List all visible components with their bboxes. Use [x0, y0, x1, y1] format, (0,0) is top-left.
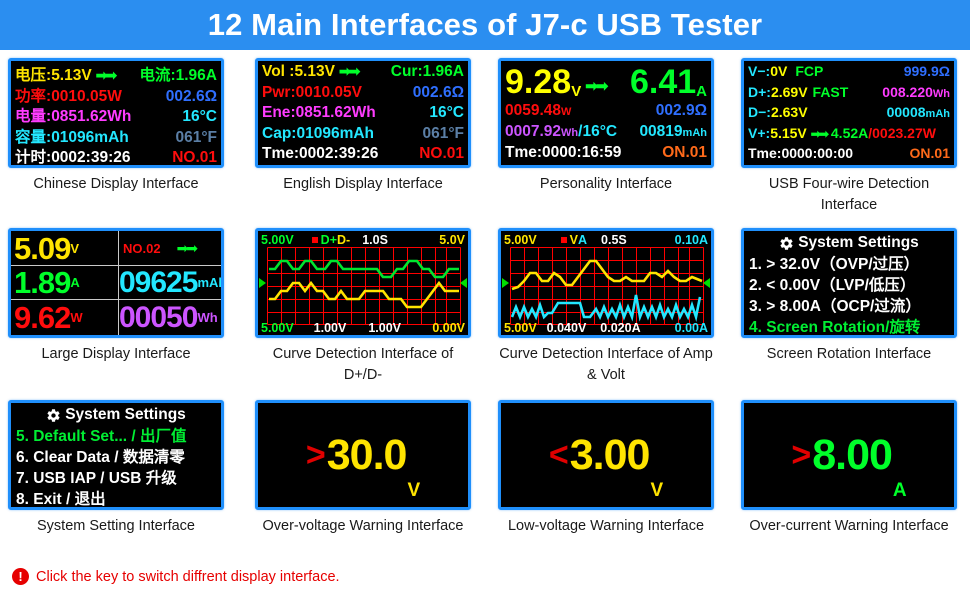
label-current: Cur — [391, 63, 418, 81]
value-group-number: NO.01 — [419, 145, 464, 163]
unit-power: W — [70, 310, 82, 325]
lcd-row: 0059.48W 002.9Ω — [505, 102, 707, 123]
label-v-minus: V−: — [748, 63, 770, 79]
legend-series-b: A — [578, 233, 587, 247]
panel-caption: Curve Detection Interface of D+/D- — [255, 344, 471, 386]
lcd-screen[interactable]: > 30.0 V — [255, 400, 471, 510]
lcd-row: 功率:0010.05W 002.6Ω — [15, 84, 217, 105]
lcd-row: Ene:0851.62Wh 16°C — [262, 104, 464, 125]
panel-large-display[interactable]: 5.09V NO.02 ➡➡ 1.89A 09625mAh 9.62W 0005… — [8, 228, 224, 365]
value-capacity: 09625 — [119, 267, 197, 298]
lcd-row: Tme:0000:00:00 ON.01 — [748, 145, 950, 166]
lcd-row: D+:2.69VFAST 008.220Wh — [748, 84, 950, 105]
settings-item-clear-data[interactable]: 6. Clear Data / 数据清零 — [11, 447, 221, 468]
panel-caption: English Display Interface — [255, 174, 471, 195]
unit-capacity: mAh — [197, 275, 221, 290]
unit-energy: Wh — [197, 310, 217, 325]
flow-arrows-icon: ➡➡ — [335, 63, 362, 80]
value-temperature-c: 16°C — [429, 104, 464, 122]
value-group-number: NO.02 — [123, 241, 161, 256]
lcd-screen[interactable]: 5.00V VA 0.5S 0.10A — [498, 228, 714, 338]
scope-plot-area — [267, 247, 459, 319]
left-marker-icon — [259, 278, 266, 288]
scope-waveform — [510, 247, 704, 325]
right-marker-icon — [460, 278, 467, 288]
unit-voltage: V — [571, 83, 581, 100]
value-voltage: 5.09 — [14, 233, 70, 264]
value-current: 1.89 — [14, 267, 70, 298]
panel-chinese-display[interactable]: 电压:5.13V ➡➡ 电流:1.96A 功率:0010.05W 002.6Ω … — [8, 58, 224, 195]
settings-item-ocp[interactable]: 3. > 8.00A（OCP/过流） — [744, 296, 954, 317]
settings-title: System Settings — [798, 234, 919, 252]
unit-voltage: V — [70, 241, 79, 256]
cell-capacity: 09625mAh — [118, 265, 221, 299]
scope-footer: 5.00V 0.040V 0.020A 0.00A — [501, 320, 711, 335]
value-protocol: FCP — [787, 63, 823, 79]
value-time: 0000:00:00 — [781, 145, 853, 161]
panel-caption: Chinese Display Interface — [8, 174, 224, 195]
panel-low-voltage-warning[interactable]: < 3.00 V Low-voltage Warning Interface — [498, 400, 714, 537]
value-status: ON.01 — [910, 145, 950, 161]
page-header: 12 Main Interfaces of J7-c USB Tester — [0, 0, 970, 50]
value-temperature-c: 16°C — [182, 108, 217, 126]
panel-system-setting[interactable]: System Settings 5. Default Set... / 出厂值 … — [8, 400, 224, 537]
settings-menu: System Settings 5. Default Set... / 出厂值 … — [11, 403, 221, 507]
page-title: 12 Main Interfaces of J7-c USB Tester — [208, 7, 762, 43]
value-temperature: /16°C — [578, 123, 617, 141]
lcd-row: 电量:0851.62Wh 16°C — [15, 104, 217, 125]
panel-caption: Large Display Interface — [8, 344, 224, 365]
scope-bottom-label-1: 5.00V — [504, 321, 537, 335]
panel-caption: Screen Rotation Interface — [741, 344, 957, 365]
value-capacity: 00008 — [887, 104, 926, 120]
left-marker-icon — [502, 278, 509, 288]
right-marker-icon — [703, 278, 710, 288]
lcd-screen[interactable]: < 3.00 V — [498, 400, 714, 510]
cell-voltage: 5.09V — [11, 231, 118, 265]
scope-timebase: 0.5S — [601, 233, 627, 247]
value-current: 1.96A — [176, 67, 217, 85]
lcd-screen[interactable]: > 8.00 A — [741, 400, 957, 510]
value-temperature-f: 061°F — [175, 129, 217, 147]
label-capacity: Cap — [262, 125, 291, 143]
value-power: 0010.05W — [51, 88, 122, 106]
label-v-plus: V+: — [748, 125, 770, 141]
unit-power: W — [561, 106, 571, 118]
value-time: 0002:39:26 — [299, 145, 378, 163]
panel-over-voltage-warning[interactable]: > 30.0 V Over-voltage Warning Interface — [255, 400, 471, 537]
legend-series-b: D- — [337, 233, 350, 247]
value-current: 6.41 — [630, 64, 696, 100]
settings-title-row: System Settings — [11, 404, 221, 426]
label-energy: Ene — [262, 104, 290, 122]
warning-content: > 30.0 V — [258, 403, 468, 507]
value-energy: 0851.62Wh — [51, 108, 131, 126]
warning-unit: V — [650, 480, 663, 507]
value-energy: 008.220 — [882, 84, 933, 100]
warning-value: 30.0 — [327, 434, 407, 477]
lcd-screen[interactable]: 5.00V D+D- 1.0S 5.0V — [255, 228, 471, 338]
panel-caption: System Setting Interface — [8, 516, 224, 537]
value-status: ON.01 — [662, 144, 707, 162]
value-charge-mode: FAST — [808, 84, 849, 100]
value-energy: 0851.62Wh — [296, 104, 376, 122]
lcd-row: D−:2.63V 00008mAh — [748, 104, 950, 125]
label-power: 功率 — [15, 84, 46, 106]
label-power: Pwr — [262, 84, 290, 102]
warning-unit: A — [893, 480, 907, 507]
unit-capacity: mAh — [683, 127, 707, 139]
value-time: 0002:39:26 — [51, 149, 130, 167]
value-v-minus: 0V — [770, 63, 787, 79]
value-temperature-f: 061°F — [422, 125, 464, 143]
cell-energy: 00050Wh — [118, 299, 221, 335]
value-power: 9.62 — [14, 302, 70, 333]
footer-note: ! Click the key to switch diffrent displ… — [12, 568, 340, 585]
flow-arrows-icon: ➡➡ — [161, 240, 200, 257]
lcd-screen[interactable]: System Settings 1. > 32.0V（OVP/过压） 2. < … — [741, 228, 957, 338]
flow-arrows-icon: ➡➡ — [92, 67, 119, 84]
value-energy: 00050 — [119, 302, 197, 333]
lcd-row: 电压:5.13V ➡➡ 电流:1.96A — [15, 63, 217, 84]
value-v-plus: 5.15V — [770, 125, 807, 141]
lcd-row: 0007.92Wh/16°C 00819mAh — [505, 123, 707, 144]
settings-item-exit[interactable]: 8. Exit / 退出 — [11, 489, 221, 510]
value-resistance: 002.6Ω — [413, 84, 464, 102]
cell-power: 9.62W — [11, 299, 118, 335]
settings-item-lvp[interactable]: 2. < 0.00V（LVP/低压） — [744, 275, 954, 296]
legend-marker-icon — [312, 237, 318, 243]
label-time: Tme — [262, 145, 294, 163]
value-resistance: 002.6Ω — [166, 88, 217, 106]
comparator-symbol: > — [791, 438, 811, 472]
value-energy: 0007.92 — [505, 123, 561, 141]
warning-value: 8.00 — [812, 434, 892, 477]
grid-divider — [118, 231, 119, 335]
settings-item-ovp[interactable]: 1. > 32.0V（OVP/过压） — [744, 254, 954, 275]
lcd-row: 容量:01096mAh 061°F — [15, 125, 217, 146]
scope-timebase: 1.0S — [362, 233, 388, 247]
scope-bottom-label-2: 0.040V — [547, 321, 587, 335]
value-power: /0023.27W — [868, 125, 936, 141]
comparator-symbol: < — [549, 438, 569, 472]
settings-title: System Settings — [65, 406, 186, 424]
settings-item-default-set[interactable]: 5. Default Set... / 出厂值 — [11, 426, 221, 447]
lcd-row: Cap:01096mAh 061°F — [262, 125, 464, 146]
lcd-row-primary: 9.28V ➡➡ 6.41A — [505, 62, 707, 102]
value-d-plus: 2.69V — [771, 84, 808, 100]
legend-marker-icon — [561, 237, 567, 243]
scope-top-left-label: 5.00V — [504, 233, 537, 247]
warning-content: > 8.00 A — [744, 403, 954, 507]
panel-caption: USB Four-wire Detection Interface — [741, 174, 957, 216]
value-power: 0010.05V — [296, 84, 362, 102]
value-voltage: 9.28 — [505, 64, 571, 100]
lcd-row: Vol :5.13V ➡➡ Cur:1.96A — [262, 63, 464, 84]
unit-energy: Wh — [561, 127, 578, 139]
page-root: 12 Main Interfaces of J7-c USB Tester 电压… — [0, 0, 970, 600]
label-d-minus: D−: — [748, 104, 771, 120]
gear-icon — [46, 408, 61, 423]
warning-value: 3.00 — [570, 434, 650, 477]
value-voltage: 5.13V — [294, 63, 335, 81]
value-group-number: NO.01 — [172, 149, 217, 167]
footer-note-text: Click the key to switch diffrent display… — [36, 569, 340, 585]
gear-icon — [779, 236, 794, 251]
panel-over-current-warning[interactable]: > 8.00 A Over-current Warning Interface — [741, 400, 957, 537]
scope-bottom-label-2: 1.00V — [314, 321, 347, 335]
label-capacity: 容量 — [15, 125, 46, 147]
label-voltage: 电压 — [15, 63, 46, 85]
lcd-screen[interactable]: V−:0VFCP 999.9Ω D+:2.69VFAST 008.220Wh D… — [741, 58, 957, 168]
unit-energy: Wh — [933, 88, 950, 100]
value-d-minus: 2.63V — [771, 104, 808, 120]
label-voltage: Vol — [262, 63, 285, 81]
cell-current: 1.89A — [11, 265, 118, 299]
lcd-screen[interactable]: 电压:5.13V ➡➡ 电流:1.96A 功率:0010.05W 002.6Ω … — [8, 58, 224, 168]
panel-screen-rotation[interactable]: System Settings 1. > 32.0V（OVP/过压） 2. < … — [741, 228, 957, 365]
settings-title-row: System Settings — [744, 232, 954, 254]
scope-header: 5.00V D+D- 1.0S 5.0V — [258, 232, 468, 247]
value-power: 0059.48 — [505, 102, 561, 120]
value-time: 0000:16:59 — [542, 144, 621, 162]
panel-caption: Over-current Warning Interface — [741, 516, 957, 537]
legend-series-a: V — [570, 233, 578, 247]
lcd-content: 电压:5.13V ➡➡ 电流:1.96A 功率:0010.05W 002.6Ω … — [11, 61, 221, 165]
value-current: 4.52A — [831, 125, 868, 141]
label-time: 计时 — [15, 145, 46, 167]
settings-item-screen-rotation[interactable]: 4. Screen Rotation/旋转 — [744, 317, 954, 338]
value-capacity: 01096mAh — [51, 129, 129, 147]
lcd-content: 9.28V ➡➡ 6.41A 0059.48W 002.9Ω 0007.92Wh… — [501, 61, 711, 165]
panel-caption: Curve Detection Interface of Amp & Volt — [498, 344, 714, 386]
value-capacity: 01096mAh — [296, 125, 374, 143]
panel-caption: Personality Interface — [498, 174, 714, 195]
scope-plot-area — [510, 247, 702, 319]
settings-menu: System Settings 1. > 32.0V（OVP/过压） 2. < … — [744, 231, 954, 335]
panel-caption: Low-voltage Warning Interface — [498, 516, 714, 537]
lcd-row: Tme:0002:39:26 NO.01 — [262, 145, 464, 166]
lcd-row: V+:5.15V➡➡4.52A/0023.27W — [748, 125, 950, 146]
lcd-content: Vol :5.13V ➡➡ Cur:1.96A Pwr:0010.05V 002… — [258, 61, 468, 165]
label-energy: 电量 — [15, 104, 46, 126]
scope-bottom-label-3: 1.00V — [368, 321, 401, 335]
value-capacity: 00819 — [639, 123, 682, 141]
unit-capacity: mAh — [926, 108, 950, 120]
label-time: Tme: — [505, 144, 542, 162]
unit-current: A — [70, 275, 79, 290]
scope-top-right-label: 5.0V — [439, 233, 465, 247]
scope-waveform — [267, 247, 461, 325]
lcd-screen[interactable]: 5.09V NO.02 ➡➡ 1.89A 09625mAh 9.62W 0005… — [8, 228, 224, 338]
lcd-row: Pwr:0010.05V 002.6Ω — [262, 84, 464, 105]
scope-top-left-label: 5.00V — [261, 233, 294, 247]
grid-divider — [11, 265, 221, 266]
exclamation-icon: ! — [12, 568, 29, 585]
unit-current: A — [696, 83, 707, 100]
value-resistance: 999.9Ω — [904, 63, 950, 79]
value-current: 1.96A — [423, 63, 464, 81]
cell-group-number: NO.02 ➡➡ — [118, 231, 221, 265]
lcd-content: V−:0VFCP 999.9Ω D+:2.69VFAST 008.220Wh D… — [744, 61, 954, 165]
scope-top-right-label: 0.10A — [675, 233, 708, 247]
lcd-row: V−:0VFCP 999.9Ω — [748, 63, 950, 84]
label-time: Tme: — [748, 145, 781, 161]
lcd-screen[interactable]: 9.28V ➡➡ 6.41A 0059.48W 002.9Ω 0007.92Wh… — [498, 58, 714, 168]
scope-bottom-label-4: 0.00V — [432, 321, 465, 335]
settings-item-usb-iap[interactable]: 7. USB IAP / USB 升级 — [11, 468, 221, 489]
scope-bottom-label-4: 0.00A — [675, 321, 708, 335]
value-resistance: 002.9Ω — [656, 102, 707, 120]
panel-curve-amp-volt[interactable]: 5.00V VA 0.5S 0.10A — [498, 228, 714, 386]
warning-content: < 3.00 V — [501, 403, 711, 507]
lcd-screen[interactable]: System Settings 5. Default Set... / 出厂值 … — [8, 400, 224, 510]
scope-footer: 5.00V 1.00V 1.00V 0.00V — [258, 320, 468, 335]
panel-usb-four-wire[interactable]: V−:0VFCP 999.9Ω D+:2.69VFAST 008.220Wh D… — [741, 58, 957, 216]
lcd-screen[interactable]: Vol :5.13V ➡➡ Cur:1.96A Pwr:0010.05V 002… — [255, 58, 471, 168]
lcd-content: 5.09V NO.02 ➡➡ 1.89A 09625mAh 9.62W 0005… — [11, 231, 221, 335]
lcd-row: Tme:0000:16:59 ON.01 — [505, 144, 707, 165]
panel-caption: Over-voltage Warning Interface — [255, 516, 471, 537]
legend-series-a: D+ — [321, 233, 337, 247]
panel-english-display[interactable]: Vol :5.13V ➡➡ Cur:1.96A Pwr:0010.05V 002… — [255, 58, 471, 195]
scope-bottom-label-3: 0.020A — [600, 321, 640, 335]
label-d-plus: D+: — [748, 84, 771, 100]
flow-arrows-icon: ➡➡ — [581, 77, 610, 100]
grid-divider — [11, 299, 221, 300]
panel-personality[interactable]: 9.28V ➡➡ 6.41A 0059.48W 002.9Ω 0007.92Wh… — [498, 58, 714, 195]
lcd-row: 计时:0002:39:26 NO.01 — [15, 145, 217, 166]
panel-curve-dpdm[interactable]: 5.00V D+D- 1.0S 5.0V — [255, 228, 471, 386]
value-voltage: 5.13V — [51, 67, 92, 85]
scope-header: 5.00V VA 0.5S 0.10A — [501, 232, 711, 247]
warning-unit: V — [407, 480, 420, 507]
label-current: 电流 — [139, 63, 170, 85]
flow-arrows-icon: ➡➡ — [807, 127, 831, 141]
comparator-symbol: > — [306, 438, 326, 472]
scope-bottom-label-1: 5.00V — [261, 321, 294, 335]
